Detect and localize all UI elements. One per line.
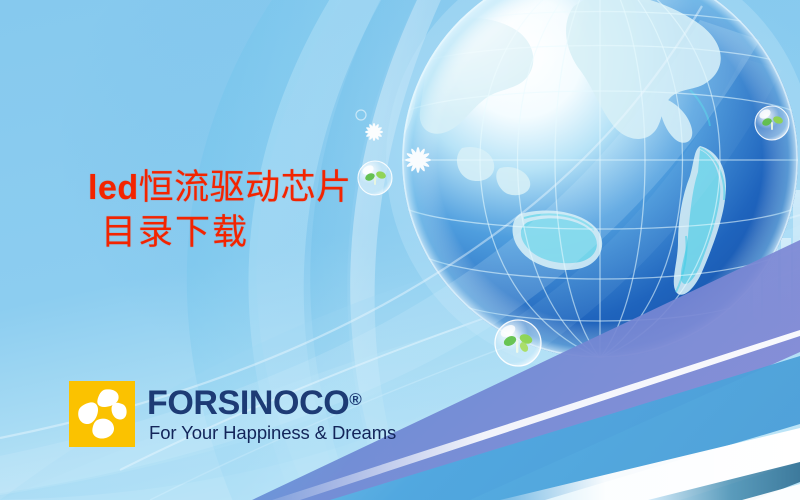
- headline-line-1: led恒流驱动芯片: [88, 166, 352, 211]
- logo-text-block: FORSINOCO® For Your Happiness & Dreams: [147, 381, 396, 444]
- promo-banner: led恒流驱动芯片 目录下载 FORSINOCO® For: [0, 0, 800, 500]
- headline-text: led恒流驱动芯片 目录下载: [88, 166, 352, 256]
- bubble-sprout-left: [358, 161, 392, 195]
- registered-trademark-icon: ®: [349, 390, 362, 409]
- headline-latin: led: [88, 169, 139, 207]
- sparkle-star-large: [405, 147, 431, 173]
- headline-line-2: 目录下载: [88, 211, 352, 256]
- logo-tagline: For Your Happiness & Dreams: [147, 422, 396, 444]
- bubble-sprout-lower: [495, 320, 541, 366]
- logo-wordmark: FORSINOCO®: [147, 383, 396, 420]
- forsinoco-four-petal-mark-icon: [69, 381, 135, 447]
- sparkle-star-small: [365, 123, 383, 141]
- logo-wordmark-text: FORSINOCO: [147, 384, 349, 422]
- headline-cjk: 恒流驱动芯片: [139, 168, 352, 207]
- bubble-sprout-right: [755, 106, 789, 140]
- company-logo[interactable]: FORSINOCO® For Your Happiness & Dreams: [69, 381, 396, 447]
